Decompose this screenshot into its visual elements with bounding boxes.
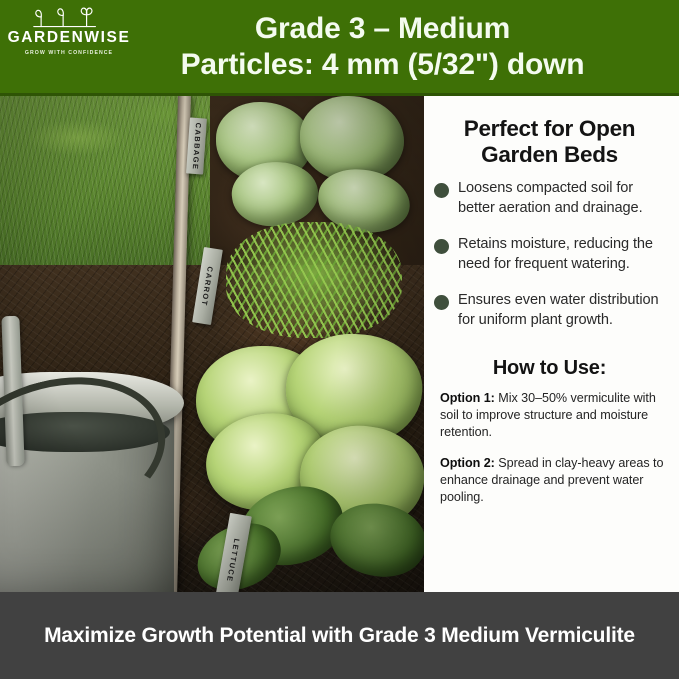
- plant-label-cabbage-text: CABBAGE: [190, 122, 202, 170]
- brand-logo: GARDENWISE GROW WITH CONFIDENCE: [8, 6, 130, 56]
- footer-text: Maximize Growth Potential with Grade 3 M…: [44, 622, 635, 650]
- photo-carrot-foliage: [226, 222, 402, 338]
- usage-option-1: Option 1: Mix 30–50% vermiculite with so…: [440, 390, 665, 441]
- benefit-text: Loosens compacted soil for better aerati…: [458, 178, 665, 218]
- bullet-dot-icon: [434, 295, 449, 310]
- photo-watering-can: [0, 326, 208, 592]
- benefit-text: Retains moisture, reducing the need for …: [458, 234, 665, 274]
- benefit-list: Loosens compacted soil for better aerati…: [434, 178, 665, 346]
- header-title-line1: Grade 3 – Medium: [96, 11, 669, 47]
- product-infographic: GARDENWISE GROW WITH CONFIDENCE Grade 3 …: [0, 0, 679, 679]
- bullet-dot-icon: [434, 239, 449, 254]
- plant-label-carrot-text: CARROT: [200, 265, 215, 306]
- info-panel: Perfect for Open Garden Beds Loosens com…: [424, 96, 679, 592]
- header-title-line2: Particles: 4 mm (5/32") down: [96, 47, 669, 83]
- garden-photo: CABBAGE CARROT LETTUCE: [0, 96, 424, 592]
- header-banner: GARDENWISE GROW WITH CONFIDENCE Grade 3 …: [0, 0, 679, 96]
- plant-label-lettuce-text: LETTUCE: [225, 537, 242, 582]
- panel-title: Perfect for Open Garden Beds: [436, 116, 663, 168]
- brand-tagline: GROW WITH CONFIDENCE: [25, 50, 113, 56]
- bullet-dot-icon: [434, 183, 449, 198]
- brand-name: GARDENWISE: [8, 29, 131, 47]
- list-item: Ensures even water distribution for unif…: [434, 290, 665, 330]
- list-item: Retains moisture, reducing the need for …: [434, 234, 665, 274]
- benefit-text: Ensures even water distribution for unif…: [458, 290, 665, 330]
- usage-option-1-label: Option 1:: [440, 391, 495, 405]
- list-item: Loosens compacted soil for better aerati…: [434, 178, 665, 218]
- usage-option-2-label: Option 2:: [440, 456, 495, 470]
- sprout-icon: [25, 6, 113, 28]
- footer-banner: Maximize Growth Potential with Grade 3 M…: [0, 592, 679, 679]
- usage-option-2: Option 2: Spread in clay-heavy areas to …: [440, 455, 665, 506]
- main-content: CABBAGE CARROT LETTUCE Perfect for Open …: [0, 96, 679, 592]
- how-to-use-title: How to Use:: [434, 356, 665, 380]
